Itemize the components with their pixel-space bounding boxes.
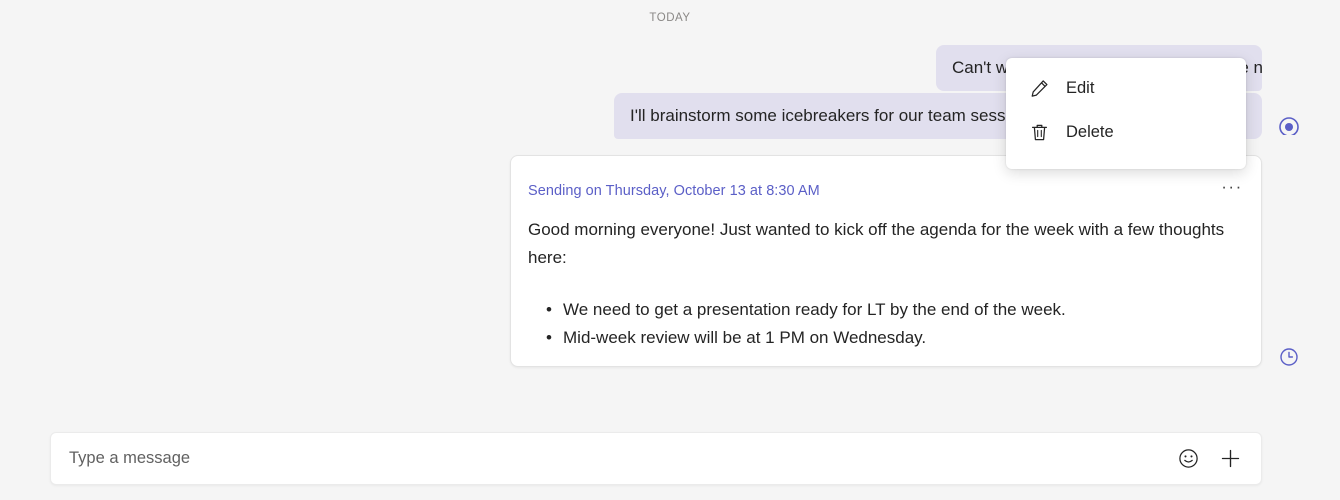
scheduled-message-card[interactable]: Sending on Thursday, October 13 at 8:30 …: [510, 155, 1262, 367]
scheduled-message-body: Good morning everyone! Just wanted to ki…: [528, 216, 1240, 272]
emoji-icon[interactable]: [1169, 440, 1207, 478]
message-input[interactable]: [51, 433, 1169, 484]
clock-icon[interactable]: [1278, 346, 1300, 368]
menu-item-label: Delete: [1066, 123, 1114, 142]
trash-icon: [1028, 121, 1050, 143]
day-divider: TODAY: [0, 8, 1340, 26]
day-divider-label: TODAY: [649, 12, 690, 24]
read-receipt-icon[interactable]: [1278, 113, 1300, 135]
menu-item-label: Edit: [1066, 79, 1094, 98]
list-item: We need to get a presentation ready for …: [563, 296, 1066, 324]
pencil-icon: [1028, 77, 1050, 99]
menu-item-delete[interactable]: Delete: [1006, 110, 1246, 154]
message-compose-bar[interactable]: [50, 432, 1262, 485]
scheduled-status-text: Sending on Thursday, October 13 at 8:30 …: [528, 183, 820, 199]
message-context-menu[interactable]: Edit Delete: [1006, 58, 1246, 169]
scheduled-message-bullet-list: We need to get a presentation ready for …: [541, 296, 1066, 351]
plus-icon[interactable]: [1211, 440, 1249, 478]
more-options-button[interactable]: ···: [1217, 173, 1247, 201]
list-item: Mid-week review will be at 1 PM on Wedne…: [563, 324, 1066, 352]
menu-item-edit[interactable]: Edit: [1006, 66, 1246, 110]
